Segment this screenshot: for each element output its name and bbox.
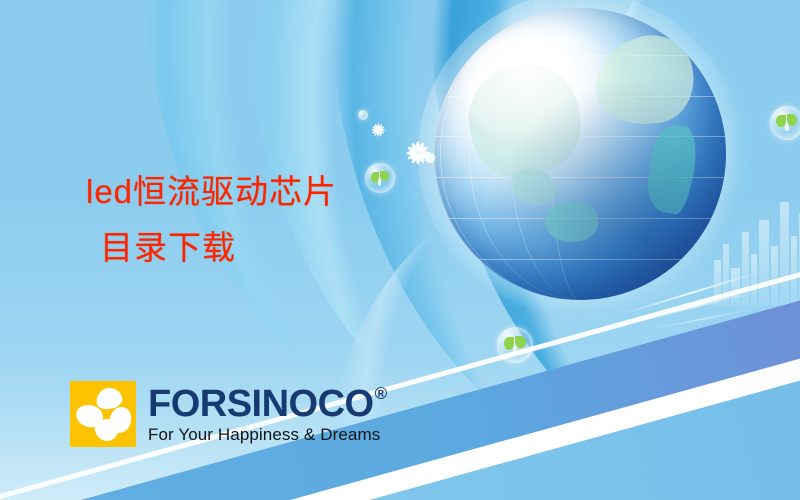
bubble-sprout-3 [770, 106, 800, 140]
logo-tagline: For Your Happiness & Dreams [148, 425, 387, 445]
logo-name-text: FORSINOCO [148, 384, 374, 424]
logo-mark-icon [70, 381, 136, 447]
continent-australia [543, 199, 599, 244]
globe-highlight [460, 26, 624, 149]
headline-line-1: led恒流驱动芯片 [86, 164, 416, 220]
globe-sphere [434, 8, 726, 300]
headline: led恒流驱动芯片 目录下载 [86, 164, 416, 276]
daisy-flower-3 [424, 152, 436, 164]
continent-south-america [643, 122, 700, 215]
globe-illustration [434, 8, 726, 300]
daisy-center [428, 156, 431, 159]
logo-name-row: FORSINOCO ® [148, 384, 387, 424]
registered-trademark-icon: ® [375, 384, 387, 404]
continent-southeast-asia [505, 162, 561, 211]
headline-line-2: 目录下载 [86, 220, 416, 276]
daisy-flower-2 [370, 122, 386, 138]
continent-asia [464, 61, 586, 183]
logo-text-block: FORSINOCO ® For Your Happiness & Dreams [148, 384, 387, 445]
company-logo[interactable]: FORSINOCO ® For Your Happiness & Dreams [70, 381, 387, 447]
banner-image: led恒流驱动芯片 目录下载 FORSINOCO ® For Your Happ… [0, 0, 800, 500]
logo-petal-bottom [94, 417, 121, 442]
bubble-small-1 [358, 110, 368, 120]
